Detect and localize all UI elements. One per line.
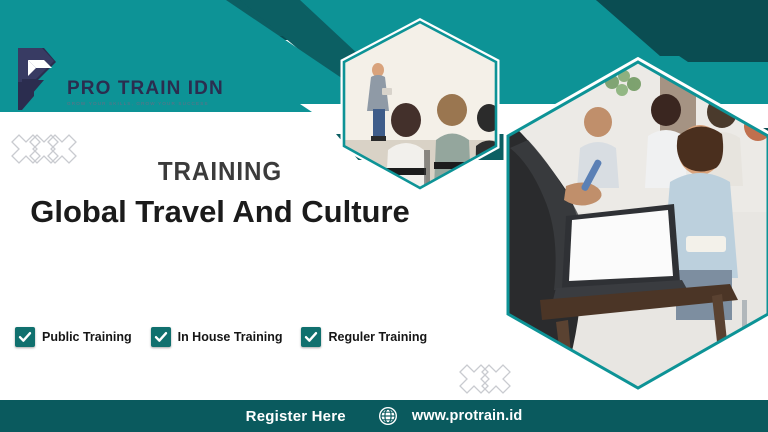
checkbox-checked-icon[interactable] bbox=[15, 327, 35, 347]
globe-icon bbox=[378, 406, 398, 426]
checkbox-checked-icon[interactable] bbox=[301, 327, 321, 347]
option-in-house-training[interactable]: In House Training bbox=[151, 327, 283, 347]
x-ornament-cluster-right bbox=[460, 365, 510, 393]
website-url[interactable]: www.protrain.id bbox=[412, 408, 523, 424]
footer-cta-bar: Register Here www.protrain.id bbox=[0, 400, 768, 432]
headline-block: TRAINING Global Travel And Culture bbox=[0, 158, 440, 231]
hexagon-photo-seminar-audience bbox=[504, 62, 768, 392]
brand-text: PRO TRAIN IDN GROW YOUR SKILLS, GROW YOU… bbox=[67, 79, 224, 113]
option-label: In House Training bbox=[178, 330, 283, 344]
option-public-training[interactable]: Public Training bbox=[15, 327, 132, 347]
training-promo-banner: PRO TRAIN IDN GROW YOUR SKILLS, GROW YOU… bbox=[0, 0, 768, 432]
brand-tagline: GROW YOUR SKILLS, GROW YOUR SUCCESS bbox=[67, 101, 224, 106]
register-here-label[interactable]: Register Here bbox=[246, 408, 346, 425]
checkbox-checked-icon[interactable] bbox=[151, 327, 171, 347]
option-label: Reguler Training bbox=[328, 330, 427, 344]
training-type-options: Public Training In House Training Regule… bbox=[15, 327, 427, 347]
brand-logo[interactable]: PRO TRAIN IDN GROW YOUR SKILLS, GROW YOU… bbox=[14, 46, 224, 112]
pro-train-arrow-logo-icon bbox=[14, 46, 60, 112]
option-label: Public Training bbox=[42, 330, 132, 344]
eyebrow-label: TRAINING bbox=[15, 158, 424, 184]
option-reguler-training[interactable]: Reguler Training bbox=[301, 327, 427, 347]
brand-name: PRO TRAIN IDN bbox=[67, 79, 224, 98]
page-title: Global Travel And Culture bbox=[0, 193, 440, 231]
